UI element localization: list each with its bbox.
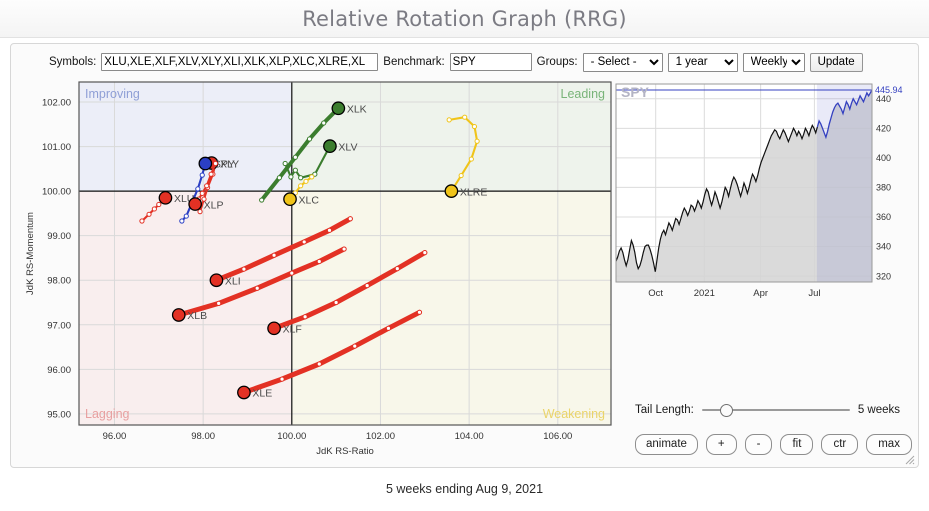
- benchmark-x-tick-label: 2021: [694, 288, 715, 299]
- rrg-series-label-XLK: XLK: [347, 103, 367, 115]
- rrg-plot[interactable]: ImprovingLeadingLaggingWeakening96.0098.…: [19, 78, 615, 463]
- x-tick-label: 96.00: [103, 431, 127, 442]
- quadrant-label-weakening: Weakening: [543, 407, 605, 421]
- benchmark-chart[interactable]: 320340360380400420440445.94Oct2021AprJul…: [614, 78, 914, 308]
- quadrant-label-lagging: Lagging: [85, 407, 130, 421]
- title-bar: Relative Rotation Graph (RRG): [0, 0, 929, 38]
- y-tick-label: 100.00: [42, 187, 71, 198]
- rrg-series-label-XLP: XLP: [204, 199, 224, 211]
- benchmark-y-tick-label: 440: [876, 94, 891, 104]
- rrg-series-label-XLE: XLE: [252, 388, 272, 400]
- x-tick-label: 100.00: [277, 431, 306, 442]
- y-tick-label: 101.00: [42, 142, 71, 153]
- tail-length-control: Tail Length: 5 weeks: [635, 399, 915, 421]
- groups-label: Groups:: [537, 56, 578, 68]
- benchmark-last-value: 445.94: [875, 85, 903, 95]
- animate-button[interactable]: animate: [635, 434, 698, 455]
- rrg-series-label-XLF: XLF: [283, 324, 302, 336]
- max-button[interactable]: max: [866, 434, 912, 455]
- y-tick-label: 95.00: [47, 409, 71, 420]
- rrg-series-label-XLB: XLB: [187, 310, 207, 322]
- slider-thumb[interactable]: [720, 404, 733, 417]
- benchmark-x-tick-label: Jul: [808, 288, 820, 299]
- benchmark-y-tick-label: 320: [876, 271, 891, 281]
- y-tick-label: 97.00: [47, 320, 71, 331]
- symbols-label: Symbols:: [49, 56, 96, 68]
- zoom-in-button[interactable]: +: [706, 434, 737, 455]
- tail-length-label: Tail Length:: [635, 404, 694, 416]
- y-tick-label: 96.00: [47, 365, 71, 376]
- chart-action-buttons: animate + - fit ctr max: [635, 432, 920, 456]
- rrg-plot-svg[interactable]: ImprovingLeadingLaggingWeakening96.0098.…: [19, 78, 615, 463]
- benchmark-y-tick-label: 420: [876, 124, 891, 134]
- rrg-series-label-XLRE: XLRE: [460, 186, 487, 198]
- benchmark-x-tick-label: Oct: [648, 288, 663, 299]
- y-tick-label: 99.00: [47, 231, 71, 242]
- benchmark-y-tick-label: 340: [876, 242, 891, 252]
- resize-grip-icon[interactable]: [903, 453, 915, 465]
- benchmark-y-tick-label: 380: [876, 183, 891, 193]
- toolbar: Symbols: Benchmark: Groups: - Select - 1…: [11, 49, 920, 75]
- benchmark-y-tick-label: 360: [876, 212, 891, 222]
- rrg-series-label-XLI: XLI: [225, 275, 241, 287]
- x-tick-label: 106.00: [543, 431, 572, 442]
- y-tick-label: 102.00: [42, 98, 71, 109]
- symbols-input[interactable]: [101, 53, 378, 71]
- footer-caption: 5 weeks ending Aug 9, 2021: [0, 482, 929, 496]
- x-tick-label: 98.00: [191, 431, 215, 442]
- page-title: Relative Rotation Graph (RRG): [302, 7, 627, 31]
- x-axis-title: JdK RS-Ratio: [316, 446, 374, 457]
- benchmark-x-tick-label: Apr: [753, 288, 768, 299]
- x-tick-label: 104.00: [455, 431, 484, 442]
- rrg-application: Relative Rotation Graph (RRG) Symbols: B…: [0, 0, 929, 511]
- benchmark-input[interactable]: [450, 53, 532, 71]
- center-button[interactable]: ctr: [821, 434, 858, 455]
- benchmark-chart-svg[interactable]: 320340360380400420440445.94Oct2021AprJul…: [614, 78, 914, 308]
- y-axis-title: JdK RS-Momentum: [25, 212, 36, 295]
- rrg-series-label-XLC: XLC: [299, 194, 320, 206]
- quadrant-label-improving: Improving: [85, 87, 140, 101]
- period-select[interactable]: 1 year: [668, 53, 738, 72]
- tail-length-slider[interactable]: [702, 402, 850, 418]
- benchmark-y-tick-label: 400: [876, 153, 891, 163]
- groups-select[interactable]: - Select -: [583, 53, 663, 72]
- y-tick-label: 98.00: [47, 276, 71, 287]
- quadrant-label-leading: Leading: [561, 87, 606, 101]
- zoom-out-button[interactable]: -: [745, 434, 773, 455]
- benchmark-symbol-watermark: SPY: [621, 84, 650, 100]
- frequency-select[interactable]: Weekly: [743, 53, 805, 72]
- fit-button[interactable]: fit: [780, 434, 813, 455]
- benchmark-label: Benchmark:: [383, 56, 444, 68]
- x-tick-label: 102.00: [366, 431, 395, 442]
- rrg-series-label-XLV: XLV: [338, 141, 357, 153]
- tail-length-value: 5 weeks: [858, 404, 900, 416]
- update-button[interactable]: Update: [810, 53, 863, 72]
- main-panel: Symbols: Benchmark: Groups: - Select - 1…: [10, 43, 919, 468]
